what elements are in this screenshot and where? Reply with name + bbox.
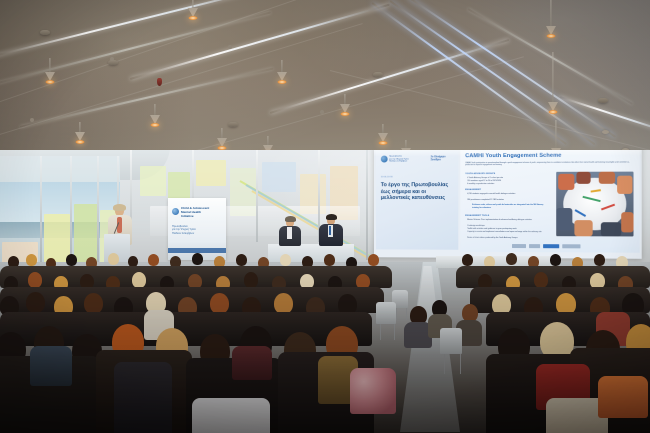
- ceiling-speaker: [228, 122, 238, 127]
- audience-head: [594, 254, 605, 266]
- audience-head: [210, 293, 229, 314]
- audience-head: [148, 254, 159, 266]
- audience-head: [462, 254, 473, 266]
- chair-leg: [444, 354, 445, 374]
- audience-floral-top: [350, 368, 396, 414]
- audience: [0, 150, 650, 433]
- ceiling-speaker: [108, 60, 118, 65]
- ceiling-speaker: [40, 30, 50, 35]
- audience-head: [280, 254, 291, 266]
- audience-head: [26, 292, 45, 313]
- audience-head: [66, 254, 77, 266]
- sprinkler: [30, 118, 34, 122]
- chair: [376, 302, 396, 324]
- chair-leg: [394, 324, 395, 340]
- audience-navy-top: [30, 346, 72, 386]
- audience-dark-coat: [114, 362, 172, 433]
- chair-leg: [396, 308, 397, 320]
- ceiling: [0, 0, 650, 172]
- chair-leg: [406, 308, 407, 320]
- audience-head: [506, 253, 517, 265]
- ceiling-speaker: [373, 72, 383, 77]
- audience-head: [274, 293, 293, 314]
- audience-head: [108, 253, 119, 265]
- audience-head: [132, 272, 146, 288]
- audience-head: [534, 272, 548, 288]
- audience-head: [236, 254, 247, 266]
- chair-leg: [460, 354, 461, 374]
- audience-orange-top: [598, 376, 648, 418]
- audience-white-top: [192, 398, 270, 433]
- conference-hall-photo: Πρωτοβουλία για την Ψυχική Υγεία Παιδιών…: [0, 0, 650, 433]
- smoke-detector: [602, 130, 609, 134]
- audience-head: [28, 272, 42, 288]
- sprinkler: [228, 45, 232, 49]
- ceiling-speaker: [598, 98, 608, 103]
- audience-maroon-top: [232, 346, 272, 380]
- audience-head: [550, 254, 561, 266]
- audience-head: [84, 293, 103, 314]
- red-indicator-lamp: [157, 78, 162, 86]
- audience-head: [324, 254, 335, 266]
- audience-head: [244, 272, 258, 288]
- chair-leg: [380, 324, 381, 340]
- sprinkler: [320, 110, 324, 114]
- audience-head: [192, 253, 203, 265]
- sprinkler: [110, 57, 114, 61]
- chair: [440, 328, 462, 354]
- audience-head: [368, 254, 379, 266]
- audience-head: [26, 254, 37, 266]
